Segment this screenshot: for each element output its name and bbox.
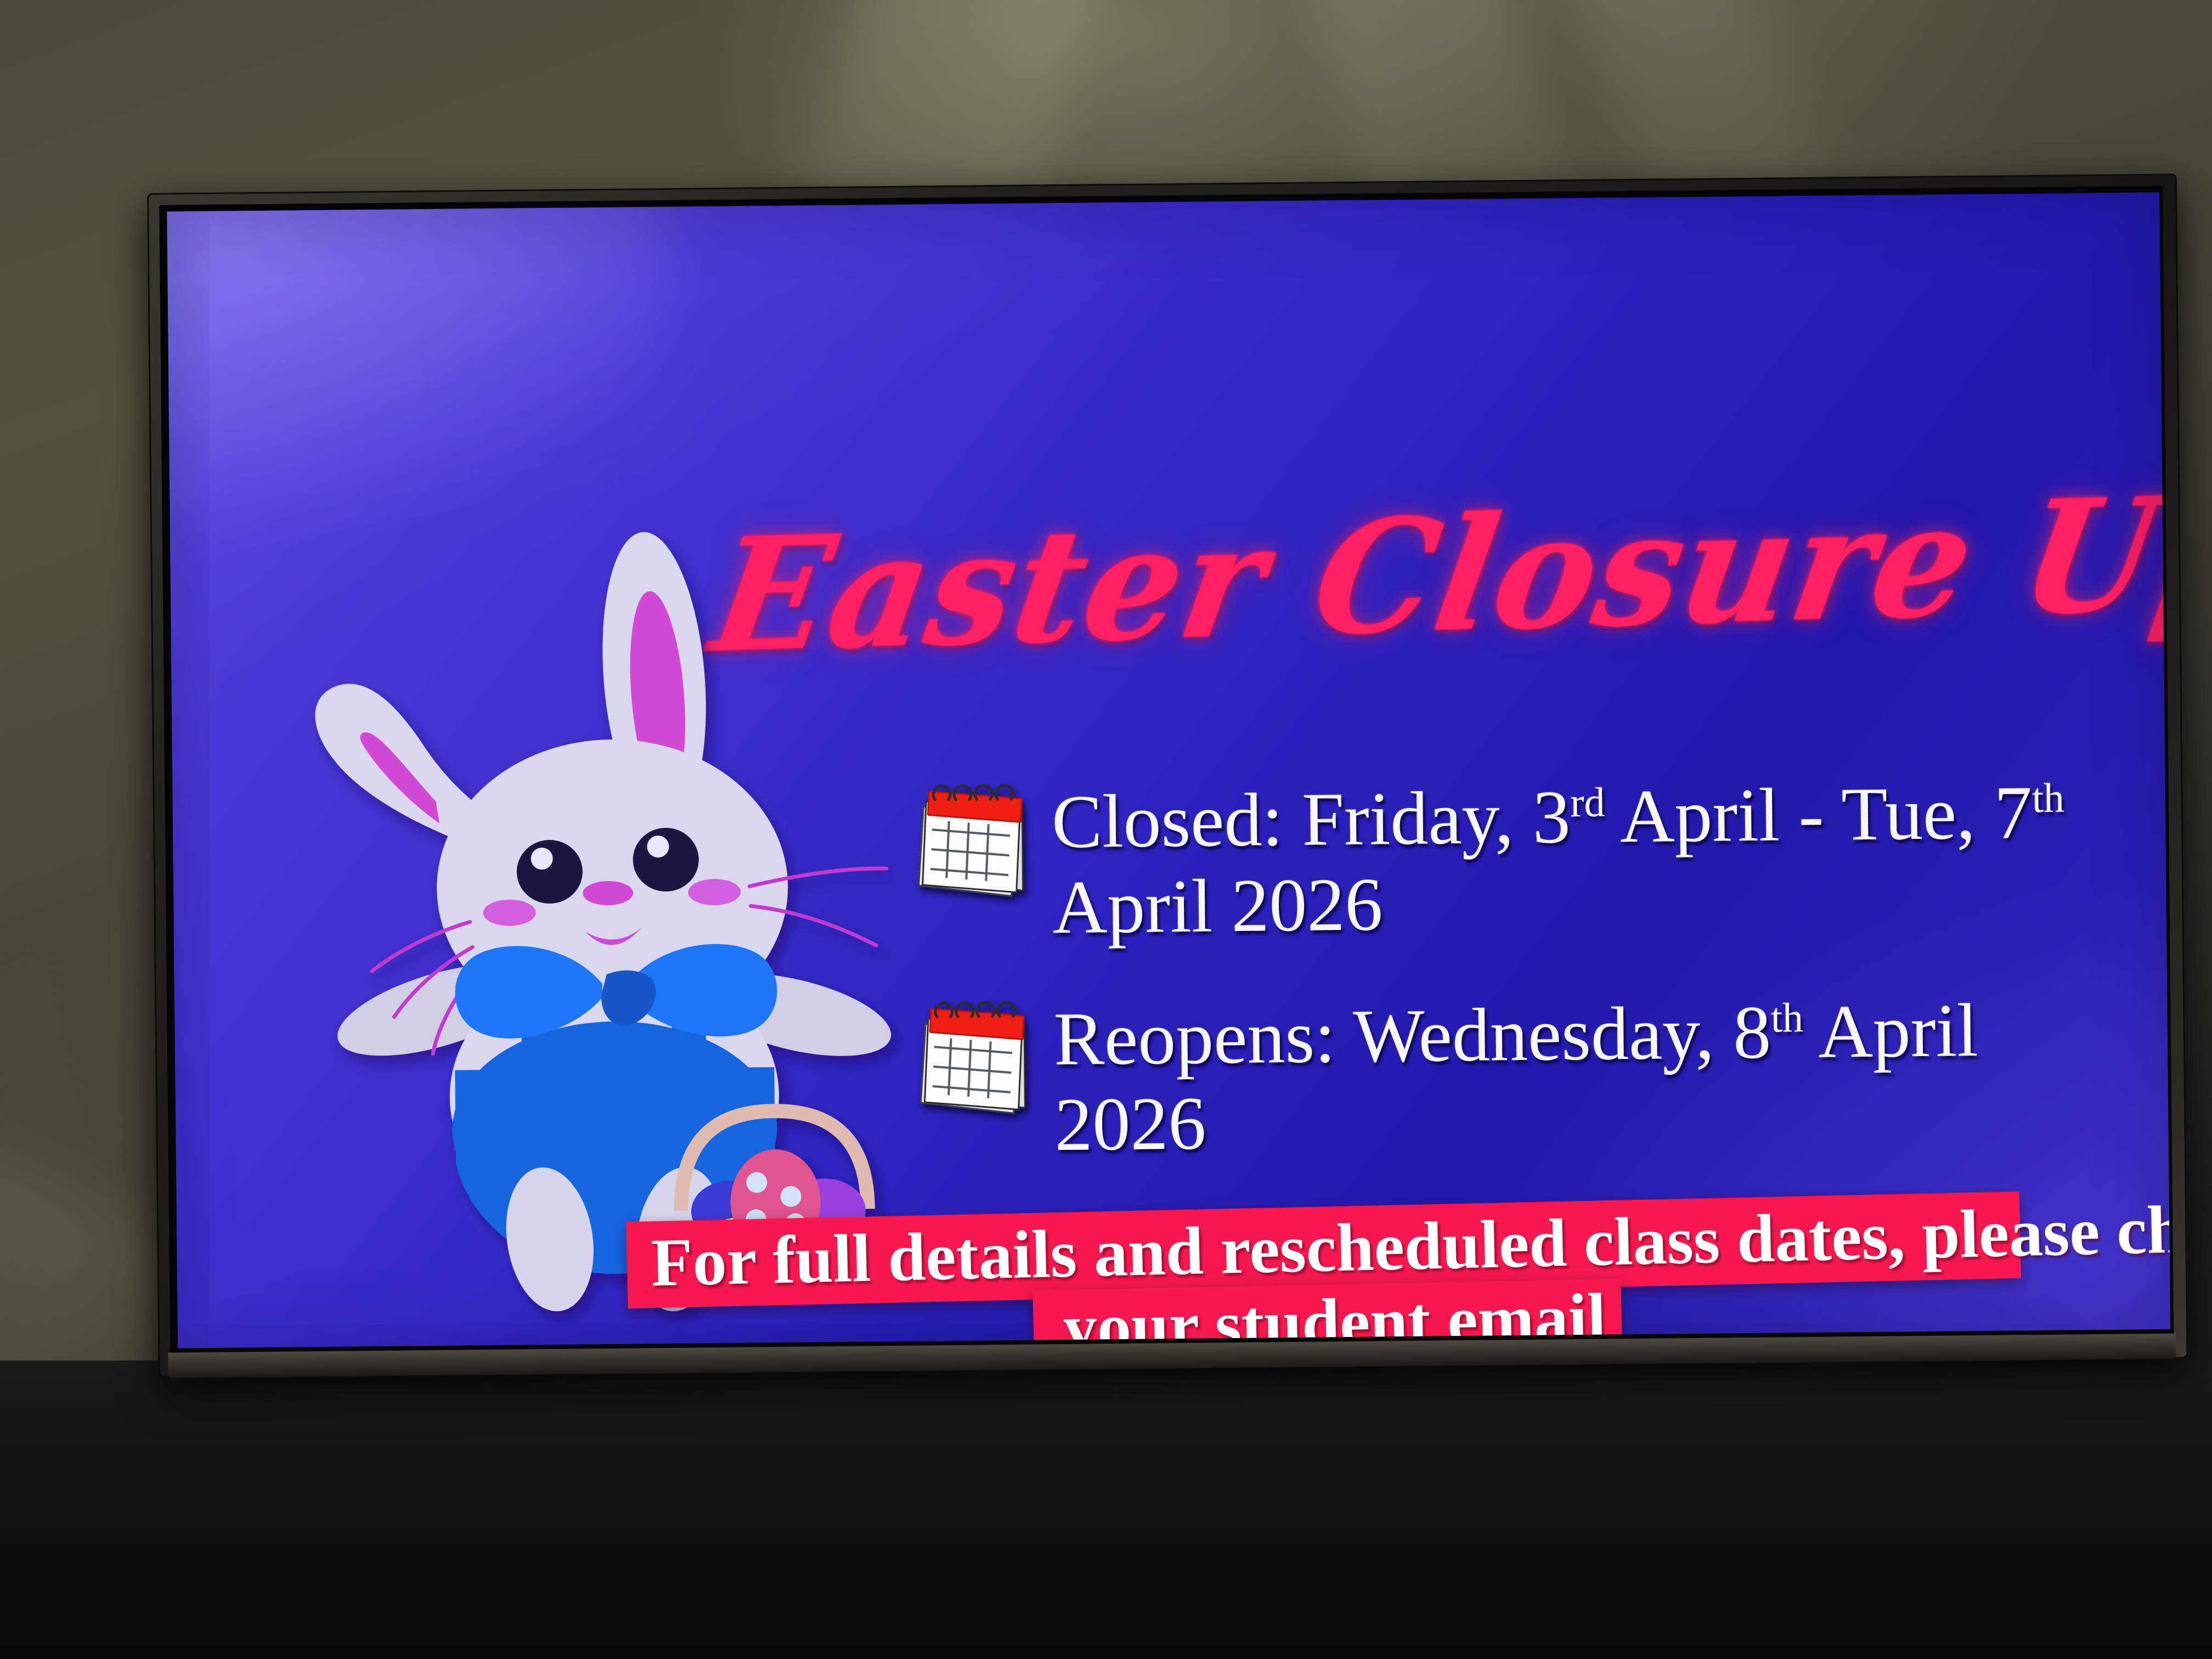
closure-prefix: Closed: Friday, 3 [1051,775,1571,864]
reopen-date-text: Reopens: Wednesday, 8th April 2026 [1053,986,2141,1167]
closure-ordinal-2: th [2032,775,2064,822]
reopen-prefix: Reopens: Wednesday, 8 [1053,990,1771,1081]
tv-screen: Easter Closure Update [167,193,2170,1348]
closure-dates-text: Closed: Friday, 3rd April - Tue, 7th Apr… [1051,769,2139,950]
closure-middle: April - Tue, 7 [1605,770,2033,858]
bullet-list: Closed: Friday, 3rd April - Tue, 7th Apr… [918,769,2151,1215]
list-item: Closed: Friday, 3rd April - Tue, 7th Apr… [918,769,2149,951]
bunny-svg [269,511,946,1341]
television: Easter Closure Update [147,173,2188,1378]
closure-ordinal-1: rd [1570,780,1605,826]
list-item: Reopens: Wednesday, 8th April 2026 [921,986,2151,1169]
reopen-ordinal-1: th [1770,995,1803,1041]
closure-suffix: April 2026 [1052,862,1383,949]
easter-bunny-illustration [269,511,946,1341]
lower-wall-shadow [0,1361,2212,1659]
